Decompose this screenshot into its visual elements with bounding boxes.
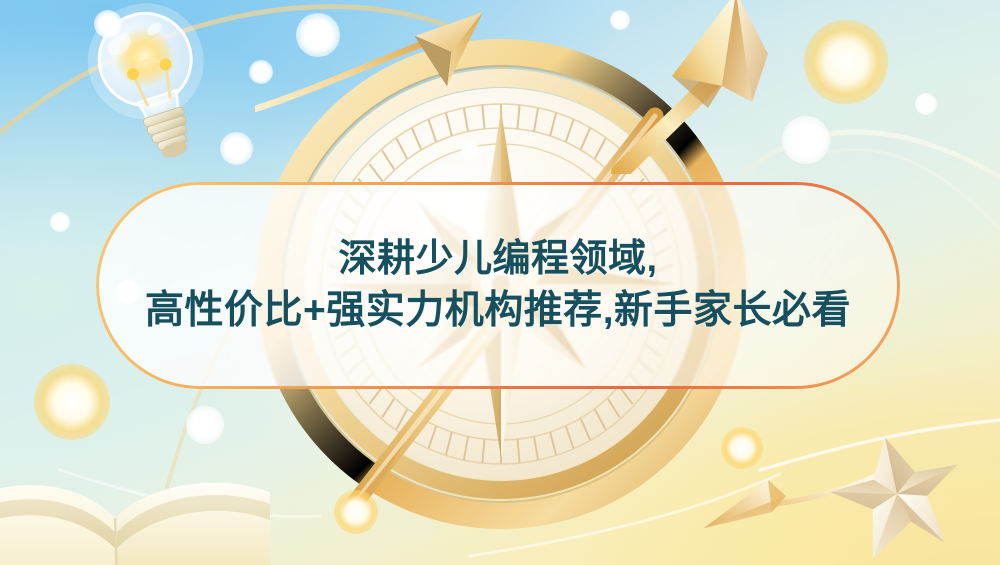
- curved-arrow-up-right-icon: [255, 0, 505, 124]
- headline-text-block: 深耕少儿编程领域, 高性价比+强实力机构推荐,新手家长必看: [96, 182, 900, 389]
- headline-line-2: 高性价比+强实力机构推荐,新手家长必看: [145, 288, 851, 334]
- headline-line-1: 深耕少儿编程领域,: [338, 237, 657, 282]
- lightbulb-icon: [72, 0, 232, 163]
- big-arrow-up-right-icon: [600, 0, 840, 174]
- banner-image: 深耕少儿编程领域, 高性价比+强实力机构推荐,新手家长必看: [0, 0, 1000, 565]
- open-book-icon: [0, 452, 270, 565]
- five-point-star-icon: [822, 430, 972, 560]
